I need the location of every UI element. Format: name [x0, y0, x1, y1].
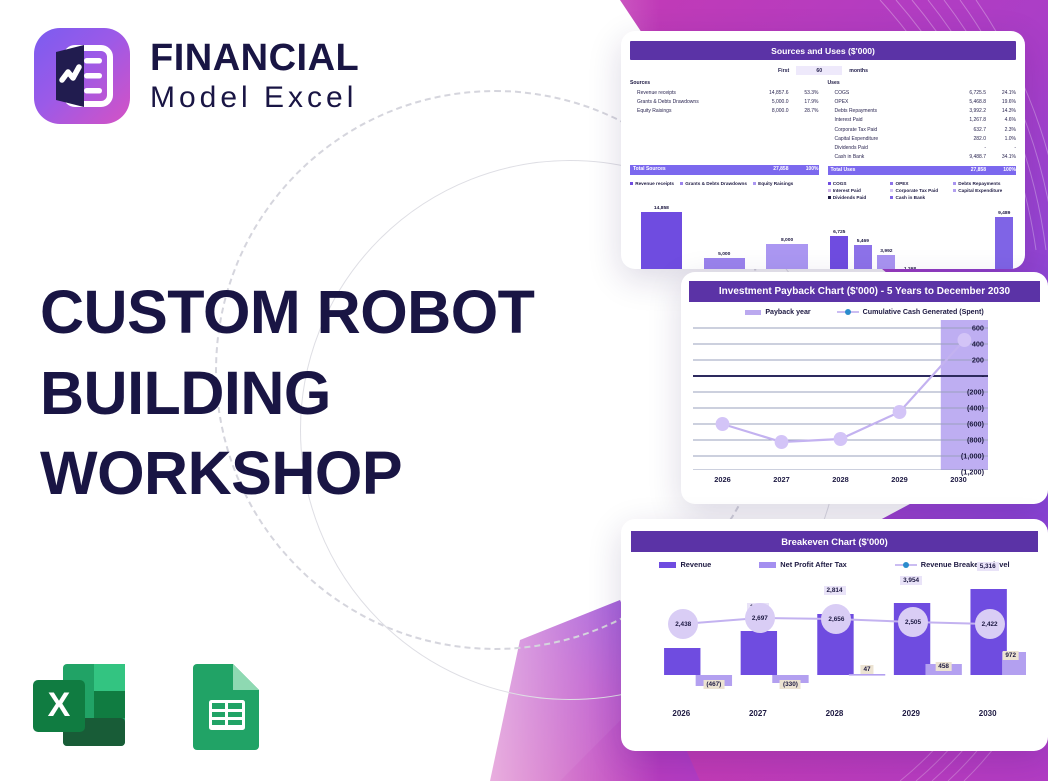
uses-chart-legend: COGS OPEX Debts Repayments Interest Paid	[828, 175, 1017, 202]
y-tick-label: (400)	[967, 404, 984, 413]
legend-label: Capital Expenditure	[958, 188, 1002, 193]
total-percent: 100%	[789, 165, 819, 175]
sources-uses-charts: 14,858 5,000 8,000 6,725	[630, 204, 1016, 269]
breakeven-x-axis: 2026 2027 2028 2029 2030	[643, 709, 1026, 718]
row-percent: 4.6%	[986, 116, 1016, 125]
table-row: Cash in Bank 9,488.7 34.1%	[828, 153, 1017, 162]
bar-value-label: 1,268	[904, 267, 916, 269]
brand-name-secondary: Model Excel	[150, 83, 359, 113]
legend-line-icon	[895, 564, 917, 566]
legend-item[interactable]: Capital Expenditure	[953, 188, 1016, 193]
revenue-value-label: 3,954	[900, 576, 922, 585]
sources-table: Sources Revenue receipts 14,857.6 53.3% …	[630, 80, 819, 175]
y-tick-label: (200)	[967, 388, 984, 397]
x-tick-label: 2030	[949, 709, 1026, 718]
x-tick-label: 2028	[796, 709, 873, 718]
table-row: Grants & Debts Drawdowns 5,000.0 17.9%	[630, 98, 819, 107]
npat-value-label: 458	[935, 662, 952, 671]
npat-value-label: 47	[860, 665, 873, 674]
table-row: Revenue receipts 14,857.6 53.3%	[630, 89, 819, 98]
row-label: Equity Raisings	[630, 107, 747, 116]
legend-label: Equity Raisings	[758, 181, 793, 186]
legend-swatch-icon	[953, 189, 956, 192]
legend-item[interactable]: OPEX	[890, 181, 953, 186]
legend-item[interactable]: Grants & Debts Drawdowns	[680, 181, 747, 186]
legend-swatch-icon	[745, 310, 761, 315]
revenue-value-label: 5,316	[977, 562, 999, 571]
months-input[interactable]: 60	[796, 66, 842, 75]
total-label: Total Sources	[630, 165, 747, 175]
legend-label: Interest Paid	[833, 188, 861, 193]
table-row: Capital Expenditure 282.0 1.0%	[828, 135, 1017, 144]
row-value: 5,468.8	[944, 98, 986, 107]
legend-label: Revenue receipts	[635, 181, 674, 186]
row-label: Grants & Debts Drawdowns	[630, 98, 747, 107]
table-spacer	[630, 116, 819, 162]
uses-header: Uses	[828, 80, 1017, 86]
bar-item[interactable]: 3,992	[877, 204, 895, 269]
row-percent: 28.7%	[789, 107, 819, 116]
bars-group: 6,725 5,469 3,992 1,268	[828, 204, 1017, 269]
npat-value-label: (330)	[780, 680, 801, 689]
file-format-icons: X	[27, 660, 265, 750]
x-tick-label: 2026	[643, 709, 720, 718]
sources-total-row: Total Sources 27,858 100%	[630, 165, 819, 175]
bar-value-label: 8,000	[781, 238, 793, 243]
row-percent: 24.1%	[986, 89, 1016, 98]
row-value: 14,857.6	[747, 89, 789, 98]
sources-bar-chart[interactable]: 14,858 5,000 8,000	[630, 204, 819, 269]
bar-value-label: 9,489	[998, 211, 1010, 216]
legend-swatch-icon	[828, 196, 831, 199]
row-value: 1,267.8	[944, 116, 986, 125]
legend-item[interactable]: Dividends Paid	[828, 195, 891, 200]
legend-swatch-icon	[890, 182, 893, 185]
sources-uses-legends: Revenue receipts Grants & Debts Drawdown…	[630, 175, 1016, 202]
table-row: COGS 6,725.5 24.1%	[828, 89, 1017, 98]
row-label: Interest Paid	[828, 116, 945, 125]
table-row: Debts Repayments 3,992.2 14.3%	[828, 107, 1017, 116]
table-row: Dividends Paid - -	[828, 144, 1017, 153]
bar-rect	[854, 245, 872, 269]
brand-wordmark: FINANCIAL Model Excel	[150, 39, 359, 113]
row-percent: 14.3%	[986, 107, 1016, 116]
legend-line-icon	[837, 311, 859, 313]
y-tick-label: 400	[972, 340, 984, 349]
x-tick-label: 2028	[811, 475, 870, 484]
legend-label: Payback year	[765, 308, 810, 316]
total-value: 27,858	[944, 166, 986, 176]
page-title: CUSTOM ROBOT BUILDING WORKSHOP	[40, 272, 560, 514]
legend-swatch-icon	[890, 196, 893, 199]
legend-item[interactable]: Debts Repayments	[953, 181, 1016, 186]
y-tick-label: 600	[972, 324, 984, 333]
revenue-value-label: 2,814	[824, 586, 846, 595]
payback-plot-area[interactable]: 600 400 200 - (200) (400) (600) (800) (1…	[693, 320, 988, 470]
legend-item[interactable]: Payback year	[745, 308, 810, 316]
row-value: 6,725.5	[944, 89, 986, 98]
row-label: Dividends Paid	[828, 144, 945, 153]
bar-item[interactable]: 282	[948, 204, 966, 269]
y-tick-label: 200	[972, 356, 984, 365]
bar-item[interactable]: 9,489	[995, 204, 1013, 269]
sources-header: Sources	[630, 80, 819, 86]
uses-table: Uses COGS 6,725.5 24.1% OPEX 5,468.8 19.…	[828, 80, 1017, 175]
total-value: 27,858	[747, 165, 789, 175]
y-tick-label: (800)	[967, 436, 984, 445]
payback-legend: Payback year Cumulative Cash Generated (…	[689, 308, 1040, 316]
row-label: Cash in Bank	[828, 153, 945, 162]
bar-item[interactable]: 0	[972, 204, 990, 269]
legend-label: OPEX	[895, 181, 908, 186]
legend-swatch-icon	[828, 189, 831, 192]
legend-swatch-icon	[953, 182, 956, 185]
legend-swatch-icon	[759, 562, 776, 568]
microsoft-excel-icon: X	[27, 660, 151, 750]
x-tick-label: 2026	[693, 475, 752, 484]
bar-rect	[704, 258, 745, 269]
row-label: Capital Expenditure	[828, 135, 945, 144]
bar-rect	[641, 212, 682, 269]
bars-group: 14,858 5,000 8,000	[630, 204, 819, 269]
investment-payback-card[interactable]: Investment Payback Chart ($'000) - 5 Yea…	[681, 272, 1048, 504]
bar-item[interactable]: 1,268	[901, 204, 919, 269]
x-tick-label: 2029	[873, 709, 950, 718]
row-label: OPEX	[828, 98, 945, 107]
row-percent: -	[986, 144, 1016, 153]
row-value: 5,000.0	[747, 98, 789, 107]
legend-swatch-icon	[753, 182, 756, 185]
row-percent: 34.1%	[986, 153, 1016, 162]
uses-total-row: Total Uses 27,858 100%	[828, 166, 1017, 176]
breakeven-bubble[interactable]: 2,422	[975, 609, 1005, 639]
row-label: Debts Repayments	[828, 107, 945, 116]
x-tick-label: 2027	[720, 709, 797, 718]
legend-label: Corporate Tax Paid	[895, 188, 938, 193]
bar-rect	[995, 217, 1013, 269]
bar-item[interactable]: 5,000	[704, 204, 745, 269]
legend-item[interactable]: COGS	[828, 181, 891, 186]
row-percent: 19.6%	[986, 98, 1016, 107]
legend-item[interactable]: Interest Paid	[828, 188, 891, 193]
period-selector[interactable]: First 60 months	[630, 66, 1016, 75]
bar-item[interactable]: 8,000	[766, 204, 807, 269]
legend-swatch-icon	[680, 182, 683, 185]
bar-item[interactable]: 6,725	[830, 204, 848, 269]
svg-text:X: X	[48, 686, 71, 724]
breakeven-bubble[interactable]: 2,697	[745, 603, 775, 633]
period-suffix-label: months	[849, 68, 868, 74]
legend-label: Grants & Debts Drawdowns	[685, 181, 747, 186]
legend-swatch-icon	[630, 182, 633, 185]
legend-swatch-icon	[890, 189, 893, 192]
bar-item[interactable]: 14,858	[641, 204, 682, 269]
bar-rect	[766, 244, 807, 269]
x-tick-label: 2029	[870, 475, 929, 484]
row-value: 282.0	[944, 135, 986, 144]
breakeven-bubble[interactable]: 2,656	[821, 604, 851, 634]
total-percent: 100%	[986, 166, 1016, 176]
sources-uses-tables: Sources Revenue receipts 14,857.6 53.3% …	[630, 80, 1016, 175]
bar-rect	[877, 255, 895, 269]
row-label: COGS	[828, 89, 945, 98]
legend-swatch-icon	[828, 182, 831, 185]
legend-label: Revenue	[680, 560, 711, 569]
y-tick-label: (1,200)	[961, 468, 984, 477]
table-row: OPEX 5,468.8 19.6%	[828, 98, 1017, 107]
period-prefix-label: First	[778, 68, 789, 74]
y-tick-label: -	[982, 372, 984, 381]
bar-item[interactable]: 633	[925, 204, 943, 269]
legend-item[interactable]: Cumulative Cash Generated (Spent)	[837, 308, 984, 316]
breakeven-chart-title: Breakeven Chart ($'000)	[631, 531, 1038, 552]
legend-label: COGS	[833, 181, 847, 186]
row-label: Revenue receipts	[630, 89, 747, 98]
y-tick-label: (1,000)	[961, 452, 984, 461]
revenue-bar	[664, 648, 700, 675]
row-value: 9,488.7	[944, 153, 986, 162]
legend-label: Cumulative Cash Generated (Spent)	[863, 308, 984, 316]
legend-swatch-icon	[659, 562, 676, 568]
row-percent: 17.9%	[789, 98, 819, 107]
row-value: 3,992.2	[944, 107, 986, 116]
legend-label: Net Profit After Tax	[780, 560, 847, 569]
data-point-markers	[716, 333, 972, 449]
bar-item[interactable]: 5,469	[854, 204, 872, 269]
table-row: Equity Raisings 8,000.0 28.7%	[630, 107, 819, 116]
row-value: 632.7	[944, 126, 986, 135]
sources-chart-legend: Revenue receipts Grants & Debts Drawdown…	[630, 175, 819, 202]
bar-value-label: 5,469	[857, 239, 869, 244]
bar-rect	[830, 236, 848, 269]
legend-item[interactable]: Net Profit After Tax	[759, 560, 847, 569]
financial-model-excel-logo-icon	[34, 28, 130, 124]
bar-value-label: 6,725	[833, 230, 845, 235]
row-value: 8,000.0	[747, 107, 789, 116]
breakeven-bubble[interactable]: 2,505	[898, 607, 928, 637]
breakeven-bubble[interactable]: 2,438	[668, 609, 698, 639]
poster-canvas: FINANCIAL Model Excel CUSTOM ROBOT BUILD…	[0, 0, 1048, 781]
legend-item[interactable]: Revenue	[659, 560, 711, 569]
bar-value-label: 3,992	[880, 249, 892, 254]
bar-value-label: 5,000	[718, 252, 730, 257]
table-row: Corporate Tax Paid 632.7 2.3%	[828, 126, 1017, 135]
y-tick-label: (600)	[967, 420, 984, 429]
legend-item[interactable]: Cash in Bank	[890, 195, 953, 200]
brand-name-primary: FINANCIAL	[150, 39, 359, 77]
google-sheets-icon	[189, 660, 265, 750]
legend-label: Cash in Bank	[895, 195, 925, 200]
payback-x-axis: 2026 2027 2028 2029 2030	[693, 475, 988, 484]
legend-item[interactable]: Revenue receipts	[630, 181, 674, 186]
sources-and-uses-card[interactable]: Sources and Uses ($'000) First 60 months…	[621, 31, 1025, 269]
uses-bar-chart[interactable]: 6,725 5,469 3,992 1,268	[828, 204, 1017, 269]
payback-y-axis: 600 400 200 - (200) (400) (600) (800) (1…	[936, 320, 986, 470]
logo-glyph	[34, 28, 130, 124]
row-percent: 53.3%	[789, 89, 819, 98]
row-value: -	[944, 144, 986, 153]
payback-chart-title: Investment Payback Chart ($'000) - 5 Yea…	[689, 281, 1040, 302]
row-label: Corporate Tax Paid	[828, 126, 945, 135]
x-tick-label: 2027	[752, 475, 811, 484]
breakeven-card[interactable]: Breakeven Chart ($'000) Revenue Net Prof…	[621, 519, 1048, 751]
bar-value-label: 14,858	[654, 206, 669, 211]
legend-item[interactable]: Corporate Tax Paid	[890, 188, 953, 193]
total-label: Total Uses	[828, 166, 945, 176]
sources-uses-title: Sources and Uses ($'000)	[630, 41, 1016, 60]
npat-value-label: (467)	[703, 680, 724, 689]
row-percent: 1.0%	[986, 135, 1016, 144]
revenue-bar	[741, 631, 777, 675]
legend-item[interactable]: Equity Raisings	[753, 181, 793, 186]
cumulative-cash-line	[723, 340, 965, 442]
row-percent: 2.3%	[986, 126, 1016, 135]
legend-label: Debts Repayments	[958, 181, 1000, 186]
legend-label: Dividends Paid	[833, 195, 867, 200]
table-row: Interest Paid 1,267.8 4.6%	[828, 116, 1017, 125]
npat-value-label: 972	[1002, 651, 1019, 660]
breakeven-plot-area[interactable]: 1,140 1,848 2,814 3,954 5,316 (467) (330…	[643, 575, 1026, 703]
brand-logo: FINANCIAL Model Excel	[34, 28, 359, 124]
